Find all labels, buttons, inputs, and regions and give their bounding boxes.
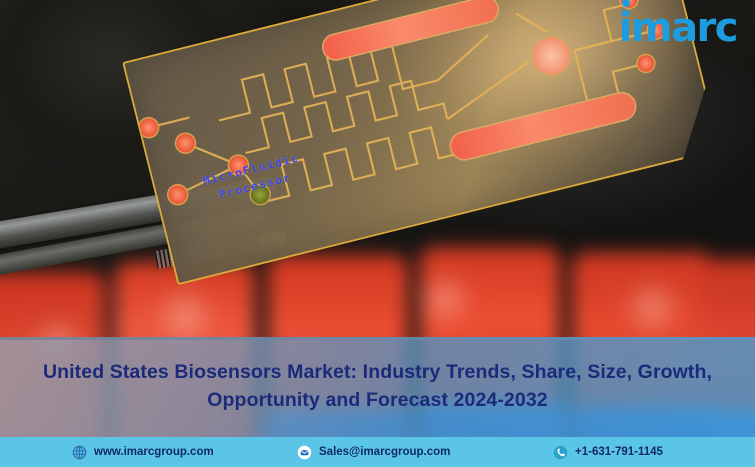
title-band: United States Biosensors Market: Industr…	[0, 337, 755, 437]
logo-text: imarc	[619, 5, 737, 51]
envelope-icon	[297, 445, 312, 460]
phone-icon	[553, 445, 568, 460]
globe-icon	[72, 445, 87, 460]
logo-dot-icon	[622, 0, 630, 7]
marketing-banner: MicroFluidic Processor imarc United Stat…	[0, 0, 755, 467]
footer-website-label: www.imarcgroup.com	[94, 446, 214, 458]
footer-email[interactable]: Sales@imarcgroup.com	[297, 445, 450, 460]
footer-phone[interactable]: +1-631-791-1145	[553, 445, 663, 460]
footer-email-label: Sales@imarcgroup.com	[319, 446, 450, 458]
footer-phone-label: +1-631-791-1145	[575, 446, 663, 458]
page-title: United States Biosensors Market: Industr…	[28, 359, 728, 414]
contact-footer: www.imarcgroup.com Sales@imarcgroup.com …	[0, 437, 755, 467]
imarc-logo[interactable]: imarc	[619, 8, 737, 48]
footer-website[interactable]: www.imarcgroup.com	[72, 445, 214, 460]
